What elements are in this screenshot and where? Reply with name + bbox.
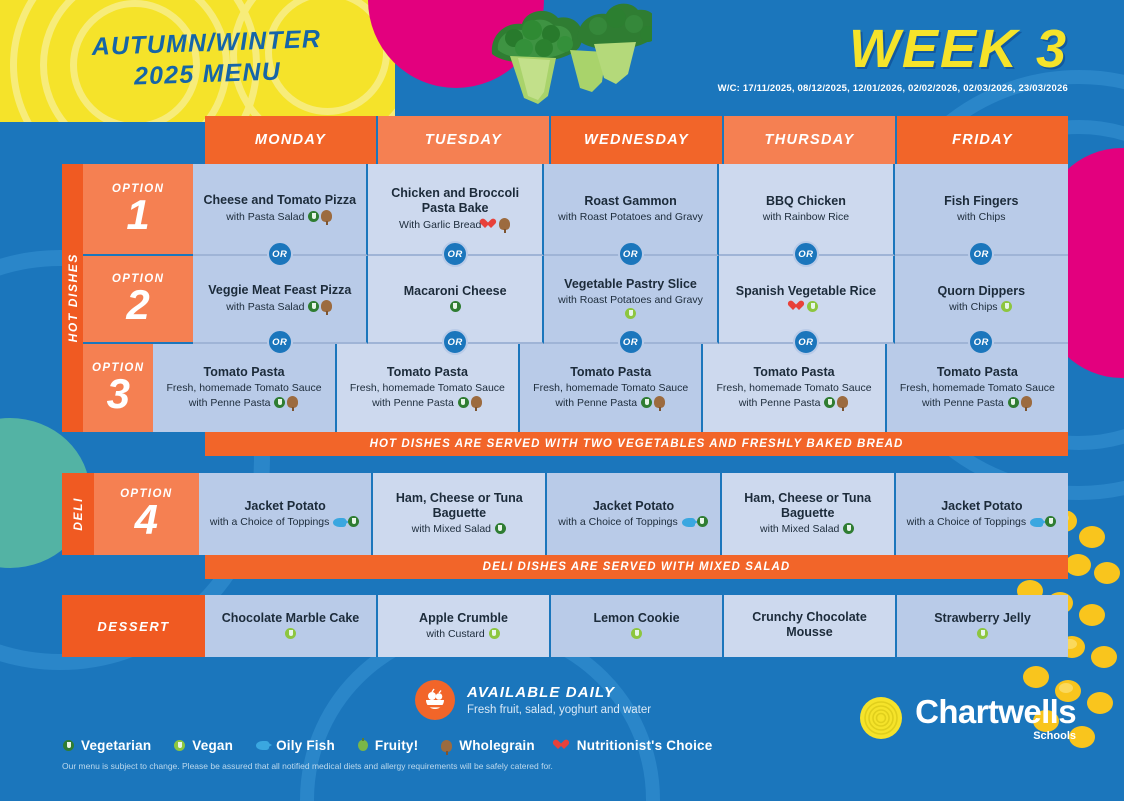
or-badge: OR (442, 241, 468, 267)
vegan-icon (807, 301, 818, 312)
legend-label: Vegetarian (81, 738, 151, 753)
menu-cell[interactable]: Cheese and Tomato Pizzawith Pasta Salad … (193, 164, 368, 256)
menu-cell[interactable]: Tomato PastaFresh, homemade Tomato Sauce… (520, 344, 703, 432)
or-badge: OR (793, 241, 819, 267)
dish-sub: Fresh, homemade Tomato Sauce with Penne … (161, 382, 326, 410)
vegan-icon (174, 740, 185, 751)
or-badge: OR (793, 329, 819, 355)
menu-cell[interactable]: Roast Gammonwith Roast Potatoes and Grav… (544, 164, 719, 256)
disclaimer-text: Our menu is subject to change. Please be… (62, 761, 553, 771)
dish-sub (792, 301, 819, 315)
legend-label: Vegan (192, 738, 233, 753)
legend-label: Nutritionist's Choice (577, 738, 713, 753)
vegetarian-icon (824, 397, 835, 408)
legend-label: Wholegrain (459, 738, 535, 753)
nutritionist-choice-icon (793, 301, 805, 312)
or-badge: OR (618, 329, 644, 355)
menu-cell[interactable]: BBQ Chickenwith Rainbow Rice OR (719, 164, 894, 256)
menu-cell[interactable]: Strawberry Jelly (897, 595, 1068, 657)
or-badge: OR (267, 241, 293, 267)
dish-sub: with Chips (957, 211, 1005, 225)
wholegrain-icon (471, 396, 482, 408)
dish-sub (976, 628, 989, 642)
legend-item-nutritionist-choice: Nutritionist's Choice (557, 738, 713, 753)
or-badge: OR (968, 241, 994, 267)
oily-fish-icon (333, 518, 346, 527)
wholegrain-icon (321, 300, 332, 312)
option-2-label: OPTION 2 (83, 256, 193, 344)
fruit-bowl-icon (415, 680, 455, 720)
vegetarian-icon (458, 397, 469, 408)
menu-cell[interactable]: Apple Crumblewith Custard (378, 595, 551, 657)
vegetarian-icon (1008, 397, 1019, 408)
day-header-friday: FRIDAY (897, 116, 1068, 164)
dish-sub: Fresh, homemade Tomato Sauce with Penne … (711, 382, 876, 410)
menu-season-title: AUTUMN/WINTER 2025 MENU (61, 23, 353, 96)
option-1-row: OPTION 1 Cheese and Tomato Pizzawith Pas… (83, 164, 1068, 256)
hot-dishes-section: HOT DISHES OPTION 1 Cheese and Tomato Pi… (62, 164, 1068, 432)
broccoli-image (452, 0, 652, 110)
vegetarian-icon (697, 516, 708, 527)
vegetarian-icon (308, 301, 319, 312)
or-badge: OR (618, 241, 644, 267)
dish-sub: with Custard (426, 628, 500, 642)
chartwells-name: Chartwells (915, 695, 1076, 728)
legend-item-fruity: Fruity! (357, 738, 418, 753)
vegetarian-icon (450, 301, 461, 312)
dish-sub: With Garlic Bread (399, 218, 511, 233)
legend-label: Oily Fish (276, 738, 335, 753)
option-3-label: OPTION 3 (83, 344, 153, 432)
menu-cell[interactable]: Crunchy Chocolate Mousse (724, 595, 897, 657)
menu-cell[interactable]: Fish Fingerswith Chips OR (895, 164, 1068, 256)
dish-sub: with Rainbow Rice (763, 211, 849, 225)
dish-sub: with Mixed Salad (760, 523, 855, 537)
or-badge: OR (267, 329, 293, 355)
vegetarian-icon (495, 523, 506, 534)
menu-cell[interactable]: Veggie Meat Feast Pizzawith Pasta Salad … (193, 256, 368, 344)
dish-sub: with Pasta Salad (226, 210, 333, 225)
dish-sub: with Pasta Salad (226, 300, 333, 315)
option-3-cells: Tomato PastaFresh, homemade Tomato Sauce… (153, 344, 1068, 432)
menu-cell[interactable]: Ham, Cheese or Tuna Baguettewith Mixed S… (722, 473, 896, 555)
option-1-label: OPTION 1 (83, 164, 193, 256)
hot-dishes-banner: HOT DISHES ARE SERVED WITH TWO VEGETABLE… (205, 432, 1068, 456)
menu-cell[interactable]: Jacket Potatowith a Choice of Toppings (199, 473, 373, 555)
dish-sub: Fresh, homemade Tomato Sauce with Penne … (528, 382, 693, 410)
vegan-icon (625, 308, 636, 319)
menu-cell[interactable]: Lemon Cookie (551, 595, 724, 657)
dietary-legend: Vegetarian Vegan Oily Fish Fruity! Whole… (62, 738, 712, 753)
vegetarian-icon (843, 523, 854, 534)
day-header-wednesday: WEDNESDAY (551, 116, 724, 164)
day-header-row: MONDAY TUESDAY WEDNESDAY THURSDAY FRIDAY (205, 116, 1068, 164)
menu-cell[interactable]: Jacket Potatowith a Choice of Toppings (896, 473, 1068, 555)
wholegrain-icon (287, 396, 298, 408)
chartwells-logo: Chartwells Schools (857, 694, 1076, 742)
available-daily-section: AVAILABLE DAILY Fresh fruit, salad, yogh… (415, 680, 651, 720)
dessert-cells: Chocolate Marble Cake Apple Crumblewith … (205, 595, 1068, 657)
dish-sub (630, 628, 643, 642)
deli-banner: DELI DISHES ARE SERVED WITH MIXED SALAD (205, 555, 1068, 579)
vegan-icon (285, 628, 296, 639)
dish-sub: with a Choice of Toppings (210, 516, 360, 530)
vegetarian-icon (274, 397, 285, 408)
vegetarian-icon (641, 397, 652, 408)
legend-item-vegetarian: Vegetarian (62, 738, 151, 753)
deli-section: DELI OPTION 4 Jacket Potatowith a Choice… (62, 473, 1068, 555)
dish-sub: with Chips (949, 301, 1013, 315)
week-number: WEEK 3 (849, 22, 1068, 76)
legend-label: Fruity! (375, 738, 418, 753)
menu-cell[interactable]: Tomato PastaFresh, homemade Tomato Sauce… (153, 344, 336, 432)
wholegrain-icon (1021, 396, 1032, 408)
option-3-row: OPTION 3 Tomato PastaFresh, homemade Tom… (83, 344, 1068, 432)
oily-fish-icon (1030, 518, 1043, 527)
wholegrain-icon (441, 740, 452, 752)
menu-cell[interactable]: Ham, Cheese or Tuna Baguettewith Mixed S… (373, 473, 547, 555)
vegan-icon (631, 628, 642, 639)
week-commencing-dates: W/C: 17/11/2025, 08/12/2025, 12/01/2026,… (718, 83, 1068, 94)
menu-cell[interactable]: Tomato PastaFresh, homemade Tomato Sauce… (887, 344, 1068, 432)
dish-sub: Fresh, homemade Tomato Sauce with Penne … (345, 382, 510, 410)
legend-item-oily-fish: Oily Fish (255, 738, 335, 753)
menu-table: MONDAY TUESDAY WEDNESDAY THURSDAY FRIDAY… (62, 116, 1068, 657)
wholegrain-icon (321, 210, 332, 222)
vegan-icon (977, 628, 988, 639)
dish-sub: with Roast Potatoes and Gravy (558, 211, 703, 225)
day-header-tuesday: TUESDAY (378, 116, 551, 164)
dish-sub (284, 628, 297, 642)
available-daily-title: AVAILABLE DAILY (467, 684, 651, 701)
vegetarian-icon (1045, 516, 1056, 527)
menu-cell[interactable]: Spanish Vegetable RiceOR (719, 256, 894, 344)
dish-sub: with Mixed Salad (412, 523, 507, 537)
menu-cell[interactable]: Tomato PastaFresh, homemade Tomato Sauce… (703, 344, 886, 432)
option-4-row: OPTION 4 Jacket Potatowith a Choice of T… (94, 473, 1068, 555)
menu-cell[interactable]: Jacket Potatowith a Choice of Toppings (547, 473, 721, 555)
available-daily-subtitle: Fresh fruit, salad, yoghurt and water (467, 704, 651, 716)
option-4-label: OPTION 4 (94, 473, 199, 555)
dish-sub: with Roast Potatoes and Gravy (552, 294, 709, 321)
category-label-deli: DELI (62, 473, 94, 555)
day-header-monday: MONDAY (205, 116, 378, 164)
nutritionist-choice-icon (485, 219, 497, 230)
menu-cell[interactable]: Chocolate Marble Cake (205, 595, 378, 657)
dish-sub (449, 301, 462, 315)
vegetarian-icon (308, 211, 319, 222)
chartwells-sub: Schools (915, 730, 1076, 742)
legend-item-wholegrain: Wholegrain (440, 738, 535, 753)
dish-sub: with a Choice of Toppings (558, 516, 708, 530)
menu-cell[interactable]: Chicken and Broccoli Pasta BakeWith Garl… (368, 164, 543, 256)
option-2-row: OPTION 2 Veggie Meat Feast Pizzawith Pas… (83, 256, 1068, 344)
menu-cell[interactable]: Quorn Dipperswith Chips OR (895, 256, 1068, 344)
oily-fish-icon (682, 518, 695, 527)
or-badge: OR (968, 329, 994, 355)
wholegrain-icon (837, 396, 848, 408)
dessert-row: DESSERT Chocolate Marble Cake Apple Crum… (62, 595, 1068, 657)
option-1-cells: Cheese and Tomato Pizzawith Pasta Salad … (193, 164, 1068, 256)
menu-cell[interactable]: Tomato PastaFresh, homemade Tomato Sauce… (337, 344, 520, 432)
dish-sub: Fresh, homemade Tomato Sauce with Penne … (895, 382, 1060, 410)
menu-cell[interactable]: Macaroni CheeseOR (368, 256, 543, 344)
option-2-cells: Veggie Meat Feast Pizzawith Pasta Salad … (193, 256, 1068, 344)
oily-fish-icon (256, 741, 269, 750)
category-label-hot-dishes: HOT DISHES (62, 164, 83, 432)
category-label-dessert: DESSERT (62, 595, 205, 657)
day-header-thursday: THURSDAY (724, 116, 897, 164)
vegan-icon (1001, 301, 1012, 312)
dish-sub: with a Choice of Toppings (907, 516, 1057, 530)
vegetarian-icon (63, 740, 74, 751)
or-badge: OR (442, 329, 468, 355)
wholegrain-icon (654, 396, 665, 408)
vegetarian-icon (348, 516, 359, 527)
vegan-icon (489, 628, 500, 639)
fruity-icon (358, 740, 368, 751)
nutritionist-choice-icon (558, 740, 570, 751)
menu-cell[interactable]: Vegetable Pastry Slicewith Roast Potatoe… (544, 256, 719, 344)
option-4-cells: Jacket Potatowith a Choice of Toppings H… (199, 473, 1068, 555)
chartwells-spiral-icon (857, 694, 905, 742)
wholegrain-icon (499, 218, 510, 230)
legend-item-vegan: Vegan (173, 738, 233, 753)
